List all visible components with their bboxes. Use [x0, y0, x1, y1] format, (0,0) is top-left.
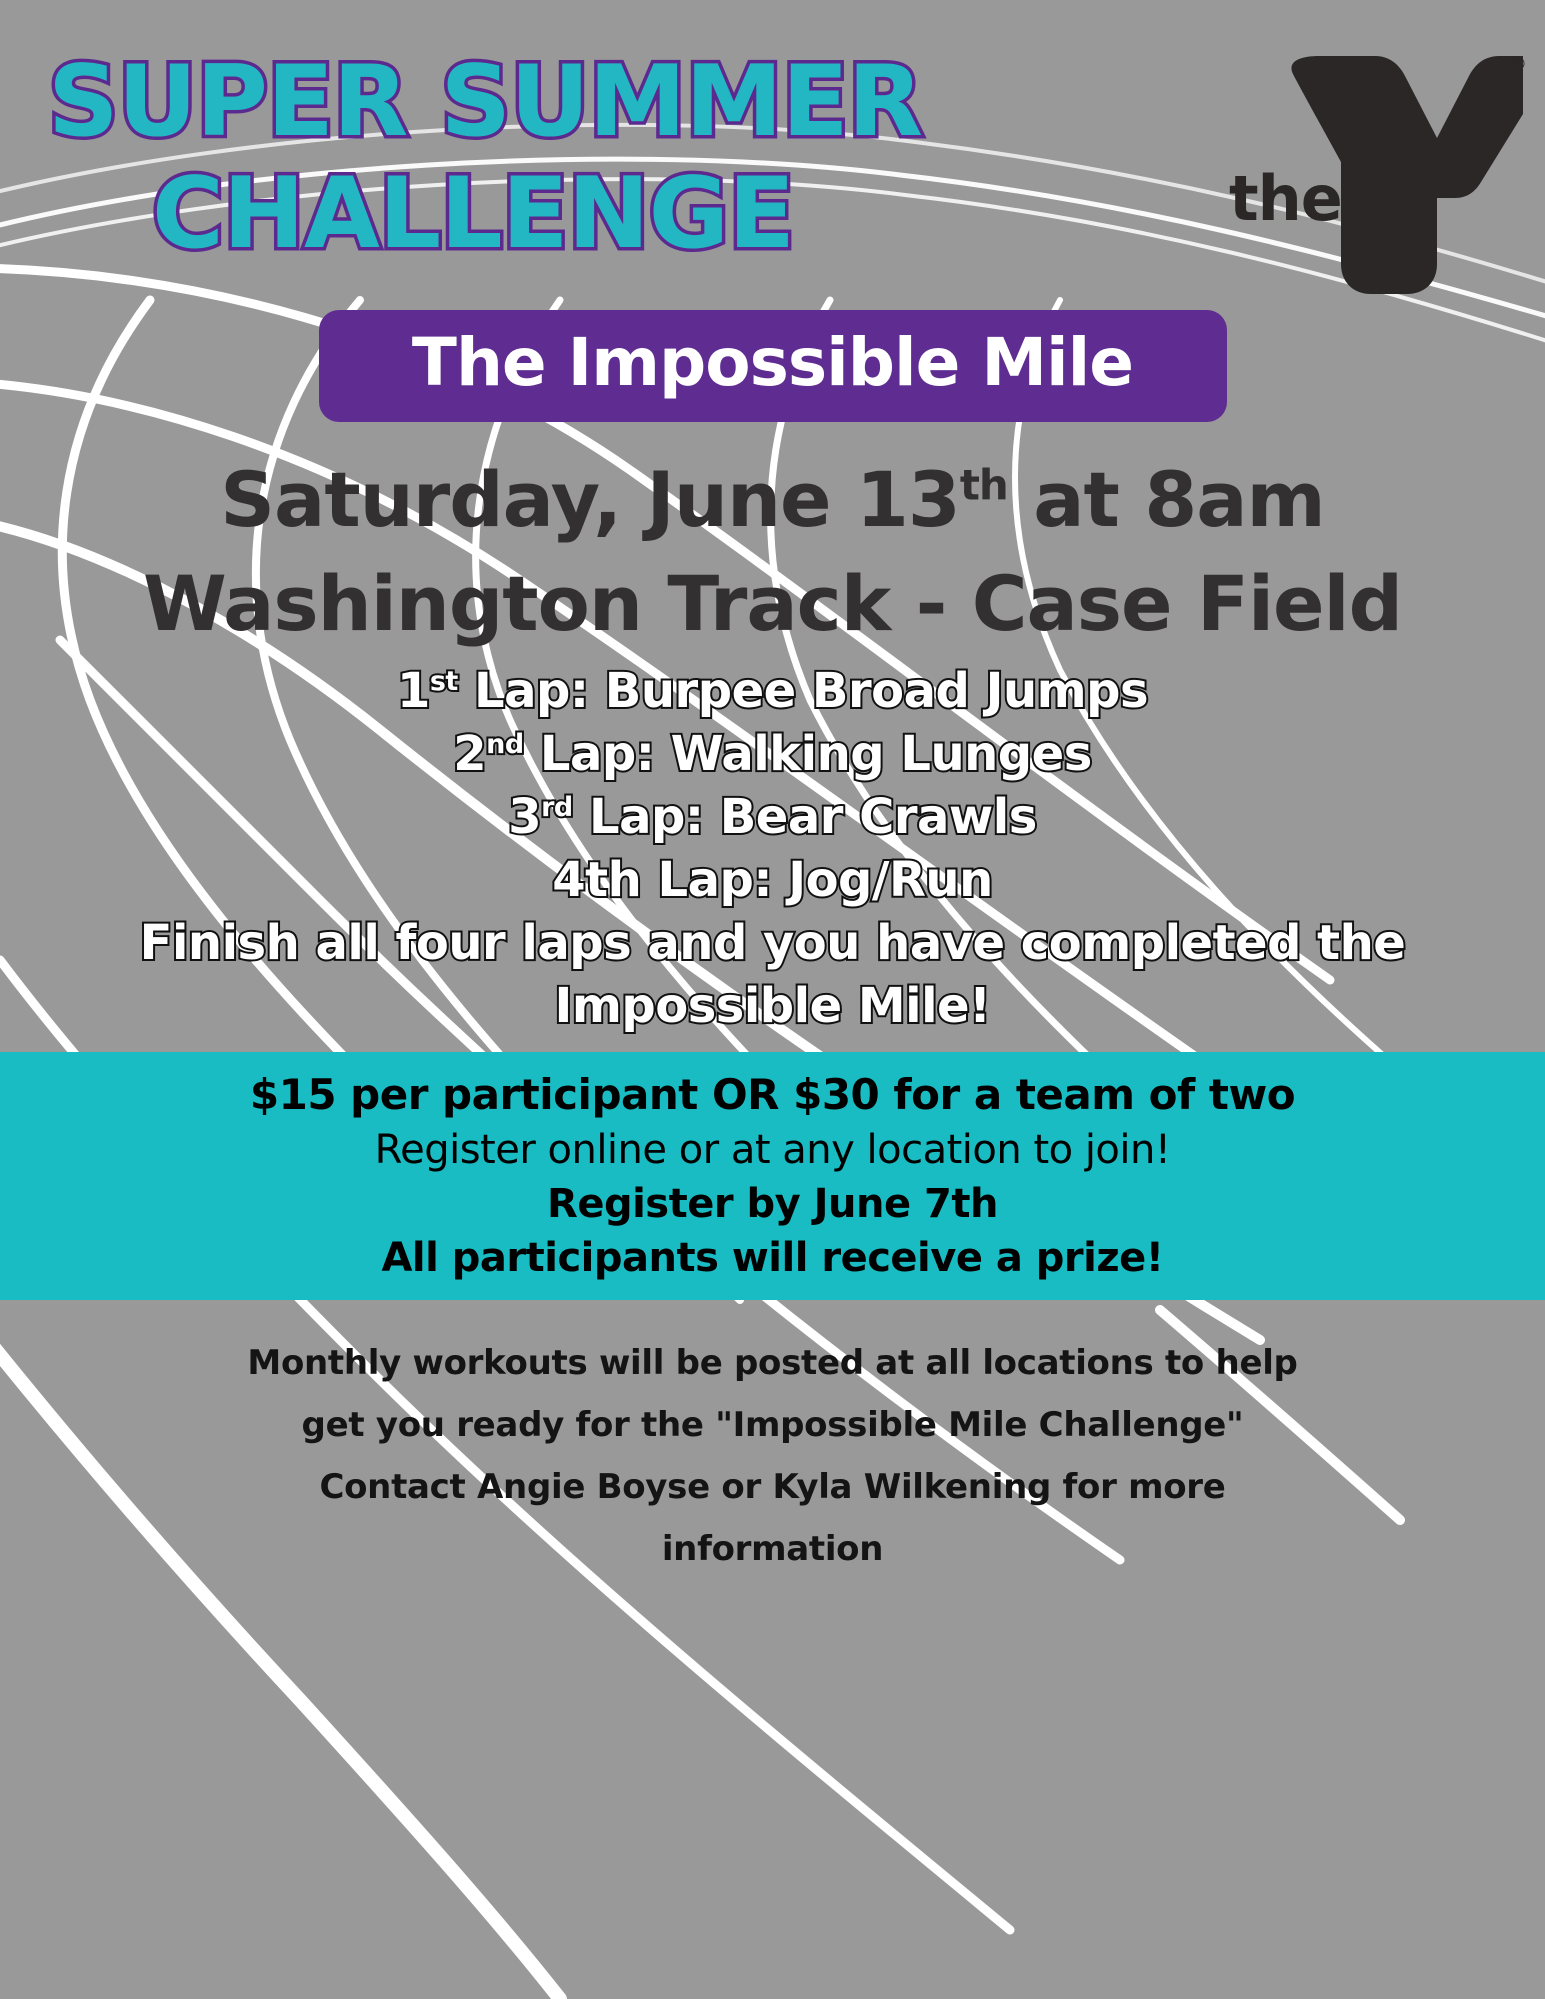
registration-price: $15 per participant OR $30 for a team of… — [250, 1067, 1295, 1123]
event-date-suffix: th — [960, 461, 1008, 510]
registered-trademark-icon: ® — [1509, 54, 1527, 75]
poster-root: SUPER SUMMER CHALLENGE the YMCA ® The Im… — [0, 0, 1545, 1999]
lap-item: 4th Lap: Jog/Run — [0, 849, 1545, 912]
event-info: Saturday, June 13th at 8am Washington Tr… — [0, 448, 1545, 656]
registration-deadline: Register by June 7th — [547, 1177, 998, 1231]
impossible-mile-banner: The Impossible Mile — [319, 310, 1227, 422]
lap-text: Lap: Burpee Broad Jumps — [458, 663, 1148, 719]
lap-ordinal-suffix: st — [430, 666, 458, 697]
footer-line-1: Monthly workouts will be posted at all l… — [140, 1332, 1405, 1394]
ymca-logo: the YMCA ® — [1223, 42, 1523, 307]
lap-text: Lap: Jog/Run — [641, 852, 992, 908]
registration-prize-note: All participants will receive a prize! — [381, 1231, 1163, 1285]
lap-item: 1st Lap: Burpee Broad Jumps — [0, 660, 1545, 723]
lap-text: Lap: Walking Lunges — [524, 726, 1092, 782]
registration-band: $15 per participant OR $30 for a team of… — [0, 1052, 1545, 1300]
lap-item: 3rd Lap: Bear Crawls — [0, 786, 1545, 849]
footer-line-2: get you ready for the "Impossible Mile C… — [140, 1394, 1405, 1456]
banner-wrapper: The Impossible Mile — [0, 310, 1545, 422]
lap-ordinal: 3 — [508, 789, 541, 845]
lap-ordinal: 1 — [397, 663, 430, 719]
logo-the-text: the — [1229, 162, 1342, 235]
finish-note: Finish all four laps and you have comple… — [0, 912, 1545, 1038]
banner-title: The Impossible Mile — [363, 326, 1183, 400]
footer-line-3: Contact Angie Boyse or Kyla Wilkening fo… — [140, 1456, 1405, 1518]
footer-notes: Monthly workouts will be posted at all l… — [0, 1332, 1545, 1580]
lap-ordinal: 4th — [552, 852, 641, 908]
event-location-line: Washington Track - Case Field — [0, 552, 1545, 656]
registration-online-note: Register online or at any location to jo… — [375, 1123, 1171, 1177]
lap-list: 1st Lap: Burpee Broad Jumps 2nd Lap: Wal… — [0, 660, 1545, 1038]
footer-line-4: information — [140, 1518, 1405, 1580]
lap-ordinal: 2 — [453, 726, 486, 782]
event-date-prefix: Saturday, June 13 — [220, 455, 960, 544]
event-time: at 8am — [1008, 455, 1325, 544]
lap-text: Lap: Bear Crawls — [573, 789, 1037, 845]
event-date-line: Saturday, June 13th at 8am — [0, 448, 1545, 552]
lap-ordinal-suffix: rd — [541, 792, 573, 823]
lap-ordinal-suffix: nd — [486, 729, 524, 760]
lap-item: 2nd Lap: Walking Lunges — [0, 723, 1545, 786]
